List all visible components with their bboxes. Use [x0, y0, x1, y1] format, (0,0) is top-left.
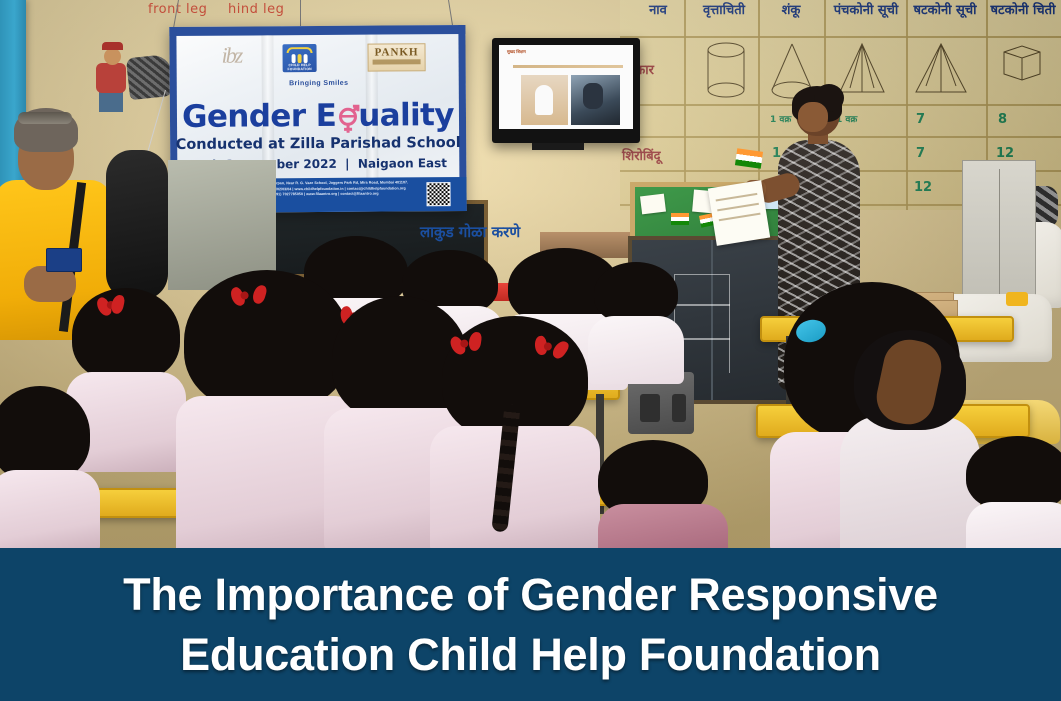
yellow-tape-roll [1006, 292, 1028, 306]
wall-note-hind-leg: hind leg [228, 2, 284, 17]
qr-code-right [426, 182, 450, 206]
indian-flag-large [735, 148, 763, 168]
banner-rope-mid [300, 0, 301, 26]
slide-image-right [571, 75, 620, 125]
tv-screen: सुखद शिक्षण [499, 45, 633, 129]
student-boy-right-hand-on-head [840, 330, 980, 548]
student-far-right [966, 436, 1061, 548]
banner-location: Naigaon East [358, 156, 447, 171]
child-help-foundation-logo: CHILD HELP FOUNDATION [282, 44, 316, 72]
wall-mural-painting [82, 42, 162, 112]
television-display: सुखद शिक्षण [492, 38, 640, 143]
student-foreground-center [598, 430, 728, 548]
caption-line-2: Education Child Help Foundation [180, 625, 881, 685]
gender-equality-symbol-icon [336, 104, 358, 132]
student-boy-mid-far-right [588, 262, 684, 382]
id-badge [46, 248, 82, 272]
classroom-photo: नाव वृत्ताचिती शंकू पंचकोनी सूची षटकोनी … [0, 0, 1061, 548]
wall-activity-label: लाकुड गोळा करणे [420, 222, 520, 242]
teacher-holding-paper [708, 180, 770, 246]
hair-bow-center-left [231, 284, 268, 313]
caption-bar: The Importance of Gender Responsive Educ… [0, 548, 1061, 701]
banner-subtitle: Conducted at Zilla Parishad School [170, 135, 466, 153]
pankh-logo: PANKH [367, 43, 425, 71]
tv-stand [532, 143, 584, 150]
slide-image-left [521, 75, 568, 125]
pankh-logo-text: PANKH [368, 46, 424, 58]
banner-tagline: Bringing Smiles [274, 80, 364, 88]
banner-title-part2: uality [358, 97, 454, 134]
student-foreground-left [0, 386, 100, 548]
banner-separator: | [345, 157, 349, 171]
slide-heading: सुखद शिक्षण [507, 49, 526, 55]
image-frame: नाव वृत्ताचिती शंकू पंचकोनी सूची षटकोनी … [0, 0, 1061, 701]
banner-title-part1: Gender E [182, 98, 336, 135]
banner-title: Gender Euality [170, 97, 466, 135]
ibz-watermark: ibz [221, 43, 241, 69]
shoulder-bag [106, 150, 168, 300]
caption-line-1: The Importance of Gender Responsive [123, 565, 938, 625]
chf-logo-text: CHILD HELP FOUNDATION [283, 64, 317, 72]
slide-subtitle-bar [513, 65, 623, 68]
